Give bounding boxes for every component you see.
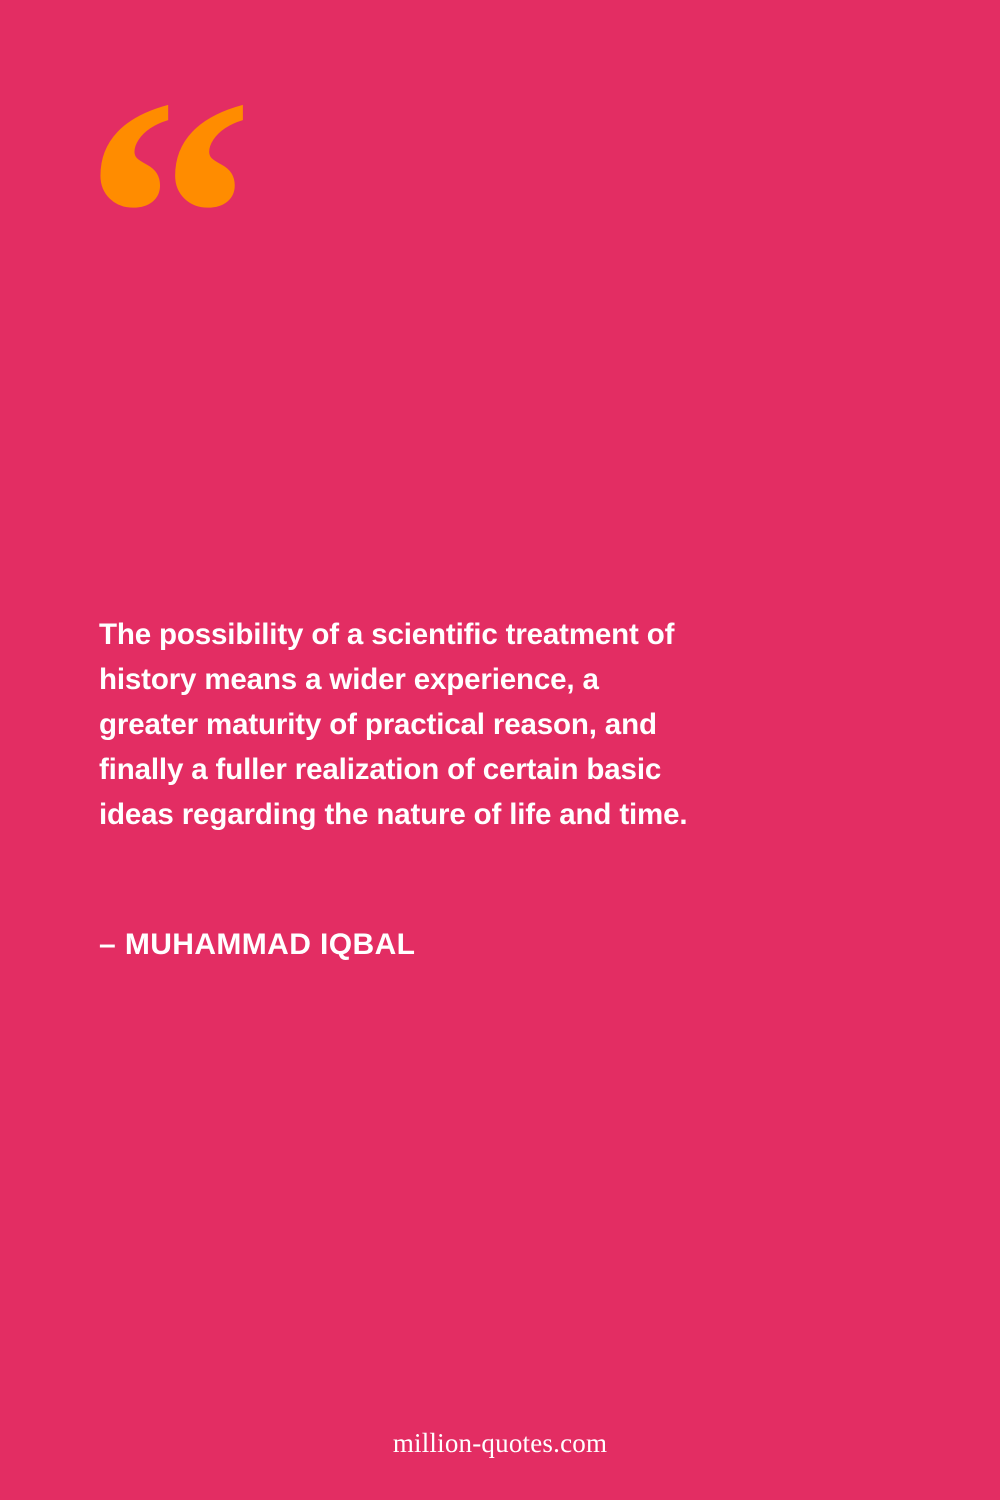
quote-line: ideas regarding the nature of life and t… bbox=[99, 792, 819, 837]
quote-poster: “ The possibility of a scientific treatm… bbox=[0, 0, 1000, 1500]
quote-line: greater maturity of practical reason, an… bbox=[99, 702, 819, 747]
quote-line: history means a wider experience, a bbox=[99, 657, 819, 702]
opening-quotation-mark-icon: “ bbox=[84, 47, 284, 307]
footer-watermark: million-quotes.com bbox=[0, 1428, 1000, 1459]
quote-line: finally a fuller realization of certain … bbox=[99, 747, 819, 792]
quote-text: The possibility of a scientific treatmen… bbox=[99, 612, 819, 837]
quote-attribution: – MUHAMMAD IQBAL bbox=[99, 928, 415, 962]
quote-line: The possibility of a scientific treatmen… bbox=[99, 612, 819, 657]
